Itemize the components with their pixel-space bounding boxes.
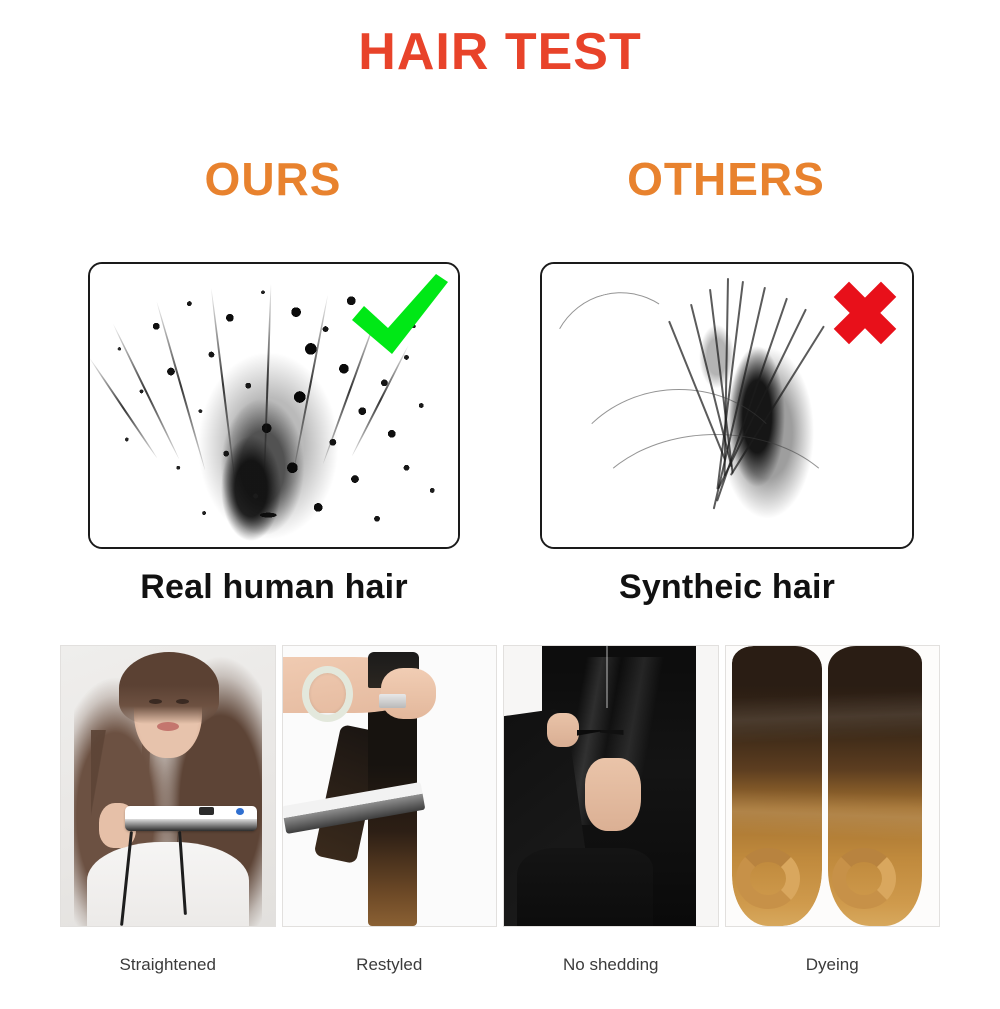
flat-iron-logo [236, 808, 244, 815]
photo-strip [60, 645, 940, 927]
photo-caption-straightened: Straightened [60, 955, 276, 985]
flat-iron-display [199, 807, 214, 815]
photo-dyeing [725, 645, 941, 927]
model-hairline [119, 652, 219, 725]
photo-restyled [282, 645, 498, 927]
model-lips [157, 722, 179, 731]
hair-sheen [726, 646, 940, 926]
model-eye [149, 699, 162, 704]
column-heading-ours: OURS [88, 152, 458, 206]
black-sleeve [517, 848, 654, 927]
check-icon [348, 272, 452, 358]
hair-test-infographic: HAIR TEST OURS OTHERS [0, 0, 1000, 1009]
photo-caption-row: Straightened Restyled No shedding Dyeing [60, 955, 940, 985]
upper-hand [547, 713, 579, 747]
model-top [87, 842, 249, 926]
photo-straightened [60, 645, 276, 927]
caption-ours: Real human hair [88, 568, 460, 607]
weft-clip [379, 694, 407, 708]
flat-iron [125, 806, 257, 831]
page-title: HAIR TEST [0, 22, 1000, 82]
caption-others: Syntheic hair [540, 568, 914, 607]
jade-bangle [302, 666, 353, 722]
photo-caption-dyeing: Dyeing [725, 955, 941, 985]
photo-caption-no-shedding: No shedding [503, 955, 719, 985]
photo-caption-restyled: Restyled [282, 955, 498, 985]
cross-icon: ✖ [824, 280, 906, 356]
combing-hand [585, 758, 641, 831]
column-heading-others: OTHERS [540, 152, 912, 206]
photo-no-shedding [503, 645, 719, 927]
